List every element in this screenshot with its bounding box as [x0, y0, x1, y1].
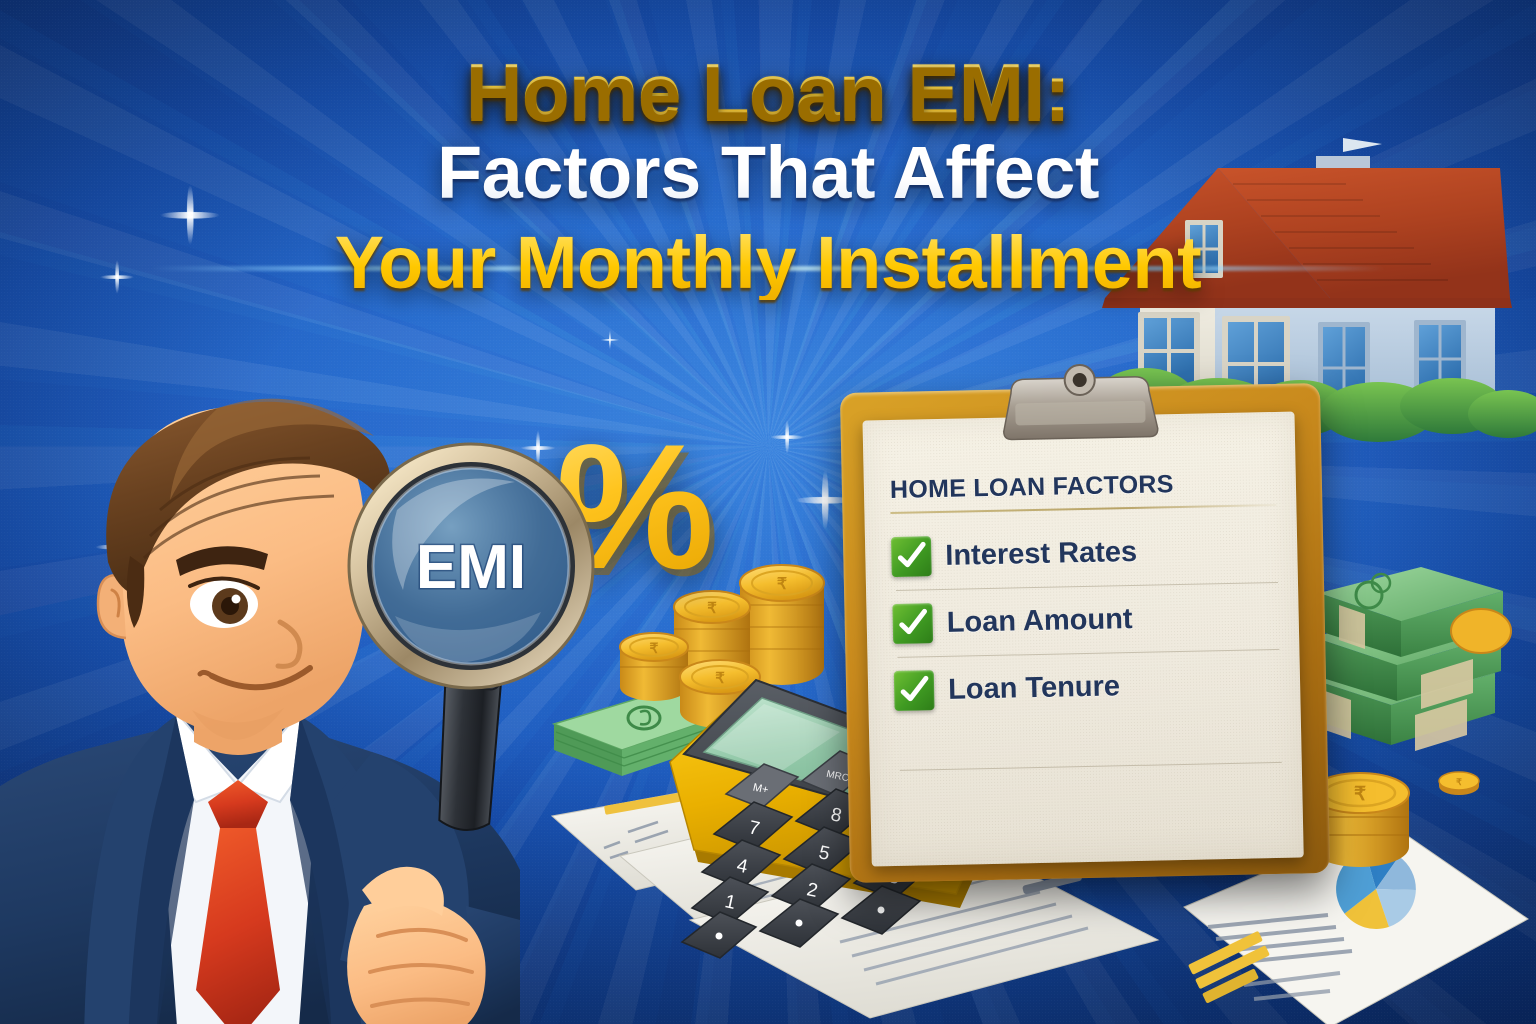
checklist-item-loan-tenure[interactable]: Loan Tenure: [893, 650, 1280, 724]
banknote-stacks: [1295, 545, 1535, 795]
checklist-label: Interest Rates: [945, 535, 1137, 572]
magnifier-label: EMI: [416, 533, 526, 602]
svg-text:₹: ₹: [777, 576, 787, 593]
clipboard-clamp-icon: [985, 370, 1176, 440]
checklist-label: Loan Tenure: [948, 670, 1121, 707]
clipboard-paper: HOME LOAN FACTORS Interest Rates Loan Am…: [863, 412, 1304, 867]
headline-line-3: Your Monthly Installment: [0, 226, 1536, 300]
headline-block: Home Loan EMI: Factors That Affect Your …: [0, 52, 1536, 300]
headline-line-1: Home Loan EMI:: [0, 52, 1536, 130]
svg-text:₹: ₹: [1456, 777, 1462, 787]
checklist-item-loan-amount[interactable]: Loan Amount: [892, 583, 1279, 657]
checklist-separator: [900, 762, 1282, 771]
check-icon: [894, 670, 935, 711]
clipboard-rule: [890, 504, 1276, 514]
sparkle-icon: [770, 420, 804, 454]
checklist-item-interest-rates[interactable]: Interest Rates: [891, 516, 1278, 590]
svg-text:₹: ₹: [650, 640, 659, 656]
sparkle-icon: [600, 330, 620, 350]
headline-line-2: Factors That Affect: [0, 136, 1536, 210]
clipboard[interactable]: HOME LOAN FACTORS Interest Rates Loan Am…: [840, 383, 1330, 883]
svg-text:₹: ₹: [1354, 784, 1366, 805]
banner-canvas: Home Loan EMI: Factors That Affect Your …: [0, 0, 1536, 1024]
gold-coin-single: ₹: [1438, 770, 1480, 792]
clipboard-heading: HOME LOAN FACTORS: [890, 468, 1277, 505]
magnifying-glass[interactable]: EMI: [345, 440, 605, 850]
check-icon: [892, 603, 933, 644]
checklist-label: Loan Amount: [946, 603, 1132, 640]
check-icon: [891, 536, 932, 577]
